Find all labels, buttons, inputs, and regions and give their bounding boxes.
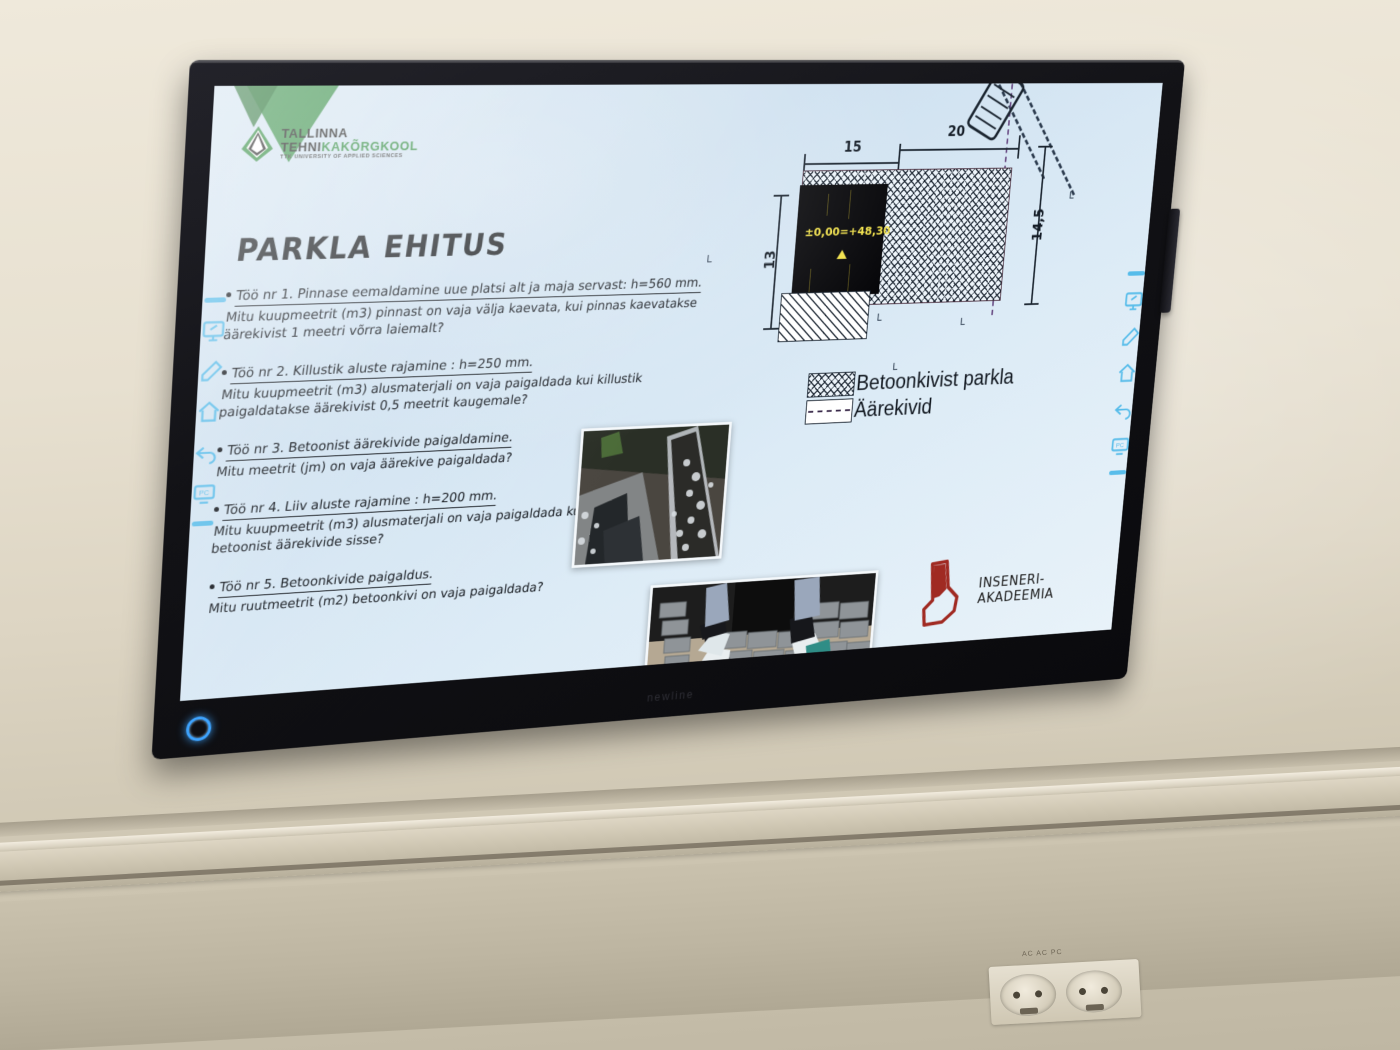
dimension-line-top: [803, 162, 898, 165]
dimension-tick: [763, 328, 778, 330]
task-item: Töö nr 2. Killustik aluste rajamine : h=…: [219, 347, 736, 423]
drawing-legend: Betoonkivist parkla Äärekivid: [804, 365, 1014, 427]
ttk-logo: TALLINNA TEHNIKAKÕRGKOOL TTK UNIVERSITY …: [240, 124, 420, 163]
dimension-value-13: 13: [762, 250, 779, 269]
annotate-screen-icon[interactable]: [200, 318, 227, 344]
dimension-tick: [897, 144, 901, 171]
presentation-slide: TALLINNA TEHNIKAKÕRGKOOL TTK UNIVERSITY …: [180, 83, 1163, 701]
legend-label: Äärekivid: [853, 395, 933, 423]
dimension-tick: [1017, 135, 1020, 158]
survey-mark-icon: L: [876, 312, 882, 324]
site-boundary-line: [1019, 83, 1075, 196]
dimension-tick: [1038, 146, 1053, 148]
decorative-triangle-icon: [214, 83, 297, 128]
back-arrow-icon[interactable]: [193, 440, 220, 466]
legend-swatch-dashed: [805, 398, 854, 424]
building-hatched-extension: [777, 291, 870, 343]
svg-text:PC: PC: [1116, 441, 1125, 449]
ttk-logo-line2a: TEHNI: [280, 139, 322, 154]
photo-curb-installation: [571, 422, 731, 568]
bezel-highlight: [190, 60, 1185, 63]
site-plan-drawing: 15 20 13 14,5 ±0,00=+48,30: [750, 83, 1160, 351]
bullet-icon: [210, 584, 215, 589]
bar-icon[interactable]: [1109, 470, 1126, 475]
inseneriakadeemia-mark-icon: [909, 558, 971, 630]
dimension-tick: [774, 195, 790, 197]
survey-mark-icon: L: [706, 253, 712, 265]
bar-icon[interactable]: [192, 521, 214, 527]
interactive-whiteboard[interactable]: newline TALLINNA TEHNIKAKÕRGKOOL: [0, 0, 1400, 1050]
pc-screen-icon[interactable]: PC: [191, 480, 218, 506]
ttk-logo-line3: TTK UNIVERSITY OF APPLIED SCIENCES: [280, 154, 418, 161]
elevation-label: ±0,00=+48,30: [804, 223, 891, 239]
slide-title: PARKLA EHITUS: [234, 227, 510, 269]
dimension-line-top: [899, 148, 1019, 151]
survey-mark-icon: L: [959, 316, 965, 328]
dimension-value-20: 20: [947, 123, 966, 139]
ttk-logo-mark-icon: [240, 125, 275, 163]
svg-text:PC: PC: [199, 488, 210, 497]
task-item: Töö nr 1. Pinnase eemaldamine uue platsi…: [223, 273, 741, 345]
legend-swatch-herringbone: [807, 372, 856, 398]
inseneriakadeemia-logo: INSENERI- AKADEEMIA: [909, 552, 1057, 629]
home-icon[interactable]: [195, 399, 222, 425]
building-footprint: ±0,00=+48,30: [791, 184, 888, 297]
dimension-tick: [1024, 303, 1038, 305]
legend-label: Betoonkivist parkla: [855, 365, 1014, 396]
dimension-value-145: 14,5: [1029, 208, 1046, 241]
bar-icon[interactable]: [204, 297, 226, 303]
north-arrow-icon: [837, 250, 848, 259]
dimension-value-15: 15: [843, 139, 862, 156]
survey-mark-icon: L: [1068, 190, 1074, 202]
car-plan-icon: [965, 83, 1027, 143]
pen-icon[interactable]: [198, 359, 225, 385]
ttk-logo-line2b: KAKÕRGKOOL: [321, 138, 419, 154]
bar-icon[interactable]: [1128, 271, 1146, 276]
display-screen[interactable]: TALLINNA TEHNIKAKÕRGKOOL TTK UNIVERSITY …: [180, 83, 1163, 701]
